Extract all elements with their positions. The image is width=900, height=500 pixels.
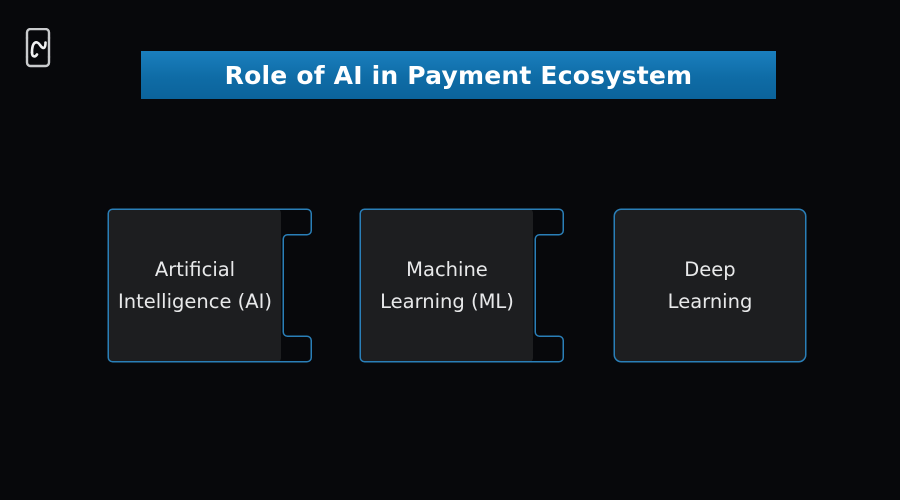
slide-canvas: Role of AI in Payment Ecosystem Artifici… bbox=[0, 0, 900, 500]
title-banner: Role of AI in Payment Ecosystem bbox=[141, 51, 776, 99]
card-shape-notched bbox=[359, 208, 565, 363]
card-shape-notched bbox=[107, 208, 313, 363]
card-shape-rounded bbox=[613, 208, 807, 363]
page-title: Role of AI in Payment Ecosystem bbox=[225, 63, 693, 88]
concept-card-deep-learning[interactable]: Deep Learning bbox=[613, 208, 807, 363]
concept-card-artificial-intelligence[interactable]: Artificial Intelligence (AI) bbox=[107, 208, 313, 363]
brand-logo-icon bbox=[23, 28, 53, 68]
concept-card-machine-learning[interactable]: Machine Learning (ML) bbox=[359, 208, 565, 363]
